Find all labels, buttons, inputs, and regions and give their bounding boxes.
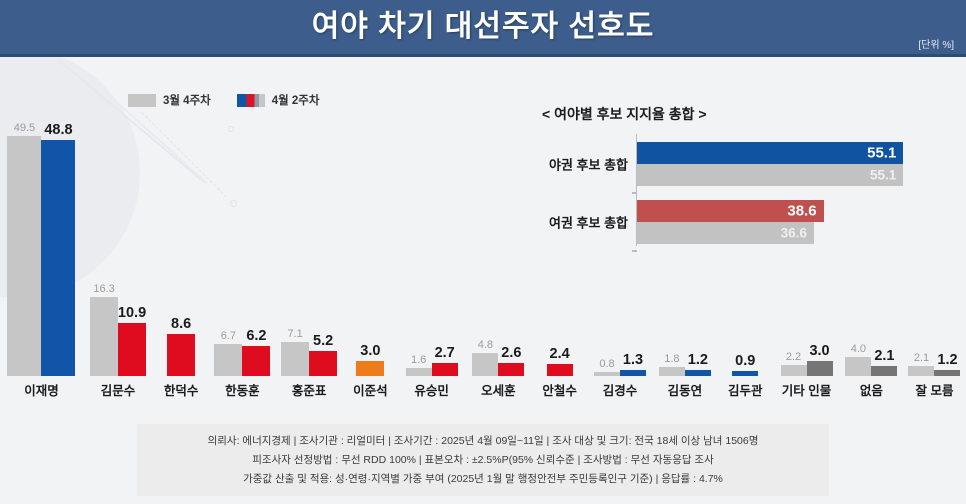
bar-pair: 16.310.9 (90, 297, 146, 376)
summary-bar-group: 야권 후보 총합55.155.1 (637, 142, 926, 186)
summary-value-current: 55.1 (867, 145, 896, 162)
candidate-name-label: 김문수 (101, 380, 136, 399)
bar-value-previous: 49.5 (14, 122, 35, 134)
bar-group: 1.62.7유승민 (398, 100, 465, 376)
bar-current-week: 1.3 (620, 370, 646, 376)
bar-value-current: 48.8 (44, 122, 72, 138)
bar-pair: 6.76.2 (214, 344, 270, 376)
candidate-name-label: 한동훈 (225, 380, 260, 399)
bar-value-current: 0.9 (735, 353, 755, 369)
candidate-name-label: 홍준표 (292, 380, 327, 399)
bar-pair: 49.548.8 (7, 136, 75, 376)
bar-current-week: 2.7 (432, 363, 458, 376)
summary-row-label: 야권 후보 총합 (549, 155, 628, 174)
bar-previous-week: 2.1 (908, 366, 934, 376)
bar-group: 6.76.2한동훈 (209, 100, 276, 376)
bar-pair: 1.62.7 (406, 363, 458, 376)
candidate-name-label: 기타 인물 (782, 380, 831, 399)
bar-previous-week: 4.8 (472, 353, 498, 376)
bar-current-week: 2.6 (498, 363, 524, 376)
candidate-name-label: 이재명 (24, 380, 59, 399)
summary-value-current: 38.6 (787, 203, 816, 220)
bar-pair: 7.15.2 (281, 342, 337, 376)
candidate-name-label: 유승민 (414, 380, 449, 399)
bar-pair: 1.81.2 (659, 367, 711, 376)
bar-current-week: 8.6 (167, 334, 195, 376)
bar-current-week: 5.2 (309, 351, 337, 376)
bar-value-current: 3.0 (809, 343, 829, 359)
bar-value-previous: 16.3 (93, 283, 114, 295)
bar-current-week: 6.2 (242, 346, 270, 376)
bar-pair: 2.23.0 (781, 361, 833, 376)
bar-pair: 8.6 (167, 334, 195, 376)
bar-value-current: 8.6 (171, 316, 191, 332)
bar-value-current: 2.6 (501, 345, 521, 361)
bar-pair: 0.81.3 (594, 370, 646, 376)
axis-tick (632, 250, 637, 252)
bar-value-current: 10.9 (118, 305, 146, 321)
bar-previous-week: 4.0 (845, 357, 871, 376)
bar-value-previous: 2.2 (786, 351, 801, 363)
candidate-name-label: 김경수 (603, 380, 638, 399)
bar-value-current: 2.7 (435, 345, 455, 361)
bar-previous-week: 0.8 (594, 372, 620, 376)
bar-current-week: 1.2 (685, 370, 711, 376)
bar-current-week: 10.9 (118, 323, 146, 376)
bar-value-current: 6.2 (246, 328, 266, 344)
candidate-name-label: 김두관 (728, 380, 763, 399)
header-banner: 여야 차기 대선주자 선호도 [단위 %] (0, 0, 966, 57)
bar-value-current: 2.1 (874, 348, 894, 364)
bar-pair: 3.0 (356, 361, 384, 376)
bar-current-week: 48.8 (41, 140, 75, 376)
bar-previous-week: 6.7 (214, 344, 242, 376)
candidate-name-label: 없음 (860, 380, 883, 399)
bar-previous-week: 7.1 (281, 342, 309, 376)
bar-value-previous: 6.7 (221, 330, 236, 342)
candidate-name-label: 한덕수 (164, 380, 199, 399)
bar-value-previous: 2.1 (914, 352, 929, 364)
bar-group: 7.15.2홍준표 (276, 100, 343, 376)
unit-label: [단위 %] (918, 36, 954, 51)
bar-group: 16.310.9김문수 (83, 100, 153, 376)
summary-plot-area: 야권 후보 총합55.155.1여권 후보 총합38.636.6 (636, 134, 926, 246)
bar-value-previous: 7.1 (287, 328, 302, 340)
bar-value-previous: 0.8 (599, 358, 614, 370)
bar-pair: 4.02.1 (845, 357, 897, 376)
bar-group: 49.548.8이재명 (0, 100, 83, 376)
summary-bar-previous: 36.6 (637, 222, 814, 244)
summary-value-previous: 36.6 (781, 226, 807, 241)
bar-current-week: 2.1 (871, 366, 897, 376)
candidate-name-label: 이준석 (353, 380, 388, 399)
bar-value-current: 1.2 (688, 352, 708, 368)
summary-title: < 여야별 후보 지지율 총합 > (542, 104, 707, 124)
footer-line-1: 의뢰사: 에너지경제 | 조사기관 : 리얼미터 | 조사기간 : 2025년 … (137, 432, 829, 451)
bar-pair: 2.4 (547, 364, 573, 376)
bar-pair: 0.9 (732, 371, 758, 376)
footer-line-3: 가중값 산출 및 적용: 성·연령·지역별 가중 부여 (2025년 1월 말 … (137, 470, 829, 489)
bar-value-current: 1.2 (937, 352, 957, 368)
bar-value-previous: 4.0 (851, 343, 866, 355)
bar-value-current: 2.4 (550, 346, 570, 362)
bar-previous-week: 16.3 (90, 297, 118, 376)
footer-line-2: 피조사자 선정방법 : 무선 RDD 100% | 표본오차 : ±2.5%P(… (137, 451, 829, 470)
bar-value-previous: 4.8 (478, 339, 493, 351)
bar-value-current: 1.3 (623, 352, 643, 368)
summary-bar-group: 여권 후보 총합38.636.6 (637, 200, 926, 244)
bar-previous-week: 1.8 (659, 367, 685, 376)
bar-group: 3.0이준석 (342, 100, 398, 376)
bar-value-current: 3.0 (360, 343, 380, 359)
survey-methodology-footer: 의뢰사: 에너지경제 | 조사기관 : 리얼미터 | 조사기간 : 2025년 … (137, 424, 829, 496)
page-title: 여야 차기 대선주자 선호도 (0, 0, 966, 54)
bar-pair: 4.82.6 (472, 353, 524, 376)
bar-previous-week: 1.6 (406, 368, 432, 376)
bar-value-current: 5.2 (313, 333, 333, 349)
summary-bar-current: 38.6 (637, 200, 824, 222)
bar-value-previous: 1.8 (664, 353, 679, 365)
bar-current-week: 1.2 (934, 370, 960, 376)
candidate-name-label: 김동연 (668, 380, 703, 399)
bar-pair: 2.11.2 (908, 366, 960, 376)
bar-previous-week: 49.5 (7, 136, 41, 376)
candidate-name-label: 잘 모름 (915, 380, 953, 399)
summary-bar-current: 55.1 (637, 142, 903, 164)
bar-current-week: 0.9 (732, 371, 758, 376)
summary-bar-previous: 55.1 (637, 164, 903, 186)
bar-previous-week: 2.2 (781, 365, 807, 376)
bar-current-week: 2.4 (547, 364, 573, 376)
candidate-name-label: 안철수 (542, 380, 577, 399)
party-summary-panel: < 여야별 후보 지지율 총합 > 야권 후보 총합55.155.1여권 후보 … (508, 104, 928, 252)
axis-tick (632, 192, 637, 194)
candidate-name-label: 오세훈 (481, 380, 516, 399)
bar-value-previous: 1.6 (411, 354, 426, 366)
bar-current-week: 3.0 (807, 361, 833, 376)
summary-row-label: 여권 후보 총합 (549, 213, 628, 232)
bar-group: 8.6한덕수 (153, 100, 209, 376)
bar-current-week: 3.0 (356, 361, 384, 376)
summary-value-previous: 55.1 (870, 168, 896, 183)
